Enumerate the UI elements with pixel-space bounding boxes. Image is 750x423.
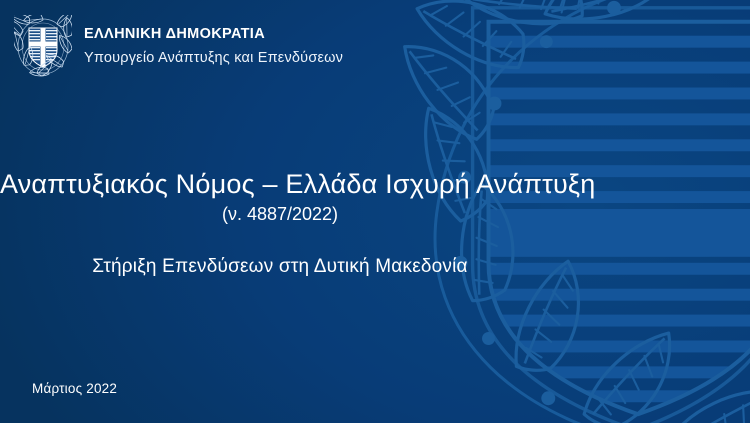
- footer-date: Μάρτιος 2022: [32, 381, 117, 396]
- ministry-name: Υπουργείο Ανάπτυξης και Επενδύσεων: [84, 48, 343, 69]
- title-slide: ΕΛΛΗΝΙΚΗ ΔΗΜΟΚΡΑΤΙΑ Υπουργείο Ανάπτυξης …: [0, 0, 750, 423]
- slide-header: ΕΛΛΗΝΙΚΗ ΔΗΜΟΚΡΑΤΙΑ Υπουργείο Ανάπτυξης …: [14, 15, 343, 77]
- page-subtitle: Στήριξη Επενδύσεων στη Δυτική Μακεδονία: [0, 255, 560, 280]
- header-text-group: ΕΛΛΗΝΙΚΗ ΔΗΜΟΚΡΑΤΙΑ Υπουργείο Ανάπτυξης …: [84, 23, 343, 69]
- page-title: Αναπτυξιακός Νόμος – Ελλάδα Ισχυρή Ανάπτ…: [0, 168, 560, 200]
- title-block: Αναπτυξιακός Νόμος – Ελλάδα Ισχυρή Ανάπτ…: [0, 168, 560, 279]
- law-reference: (ν. 4887/2022): [0, 203, 560, 226]
- greek-coat-of-arms-icon: [14, 15, 72, 77]
- organization-name: ΕΛΛΗΝΙΚΗ ΔΗΜΟΚΡΑΤΙΑ: [84, 25, 343, 45]
